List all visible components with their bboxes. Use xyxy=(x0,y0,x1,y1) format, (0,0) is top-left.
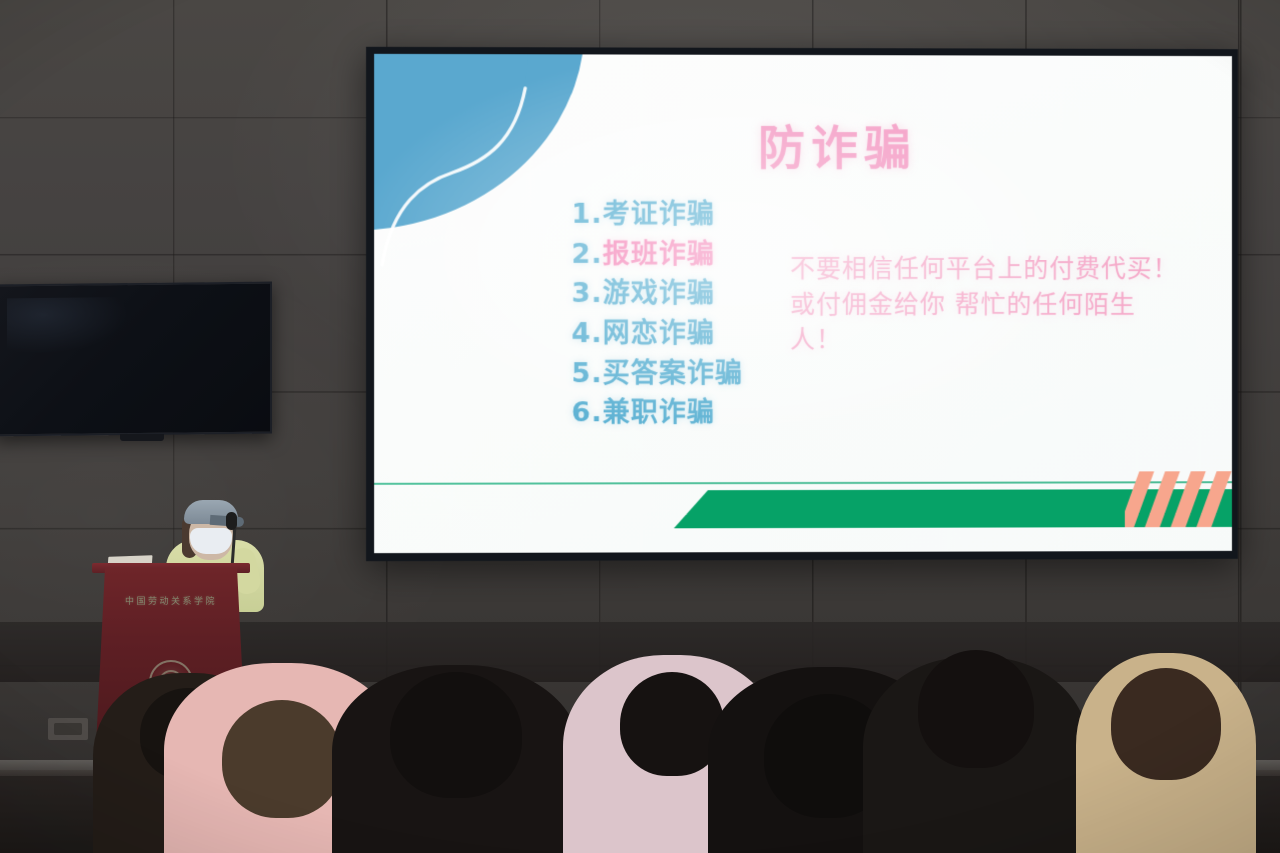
attendee-6-ponytail xyxy=(863,650,1089,853)
fraud-type-list: 1.考证诈骗 2.报班诈骗 3.游戏诈骗 4.网恋诈骗 5.买答案诈骗 6.兼职… xyxy=(571,197,743,431)
list-item: 1.考证诈骗 xyxy=(571,197,743,233)
podium-inscription: 中国劳动关系学院 xyxy=(96,594,246,607)
wall-power-outlet[interactable] xyxy=(48,718,88,740)
attendee-head xyxy=(1111,668,1221,780)
display-glare xyxy=(7,297,128,354)
list-item-number: 2. xyxy=(571,238,602,269)
list-item-number: 6. xyxy=(571,397,602,428)
slide-title: 防诈骗 xyxy=(758,109,917,178)
presentation-slide: 防诈骗 1.考证诈骗 2.报班诈骗 3.游戏诈骗 4.网恋诈骗 5.买答案诈骗 xyxy=(374,54,1232,553)
list-item-label: 网恋诈骗 xyxy=(603,318,715,349)
slide-hairline-rule xyxy=(374,481,1232,485)
attendee-head xyxy=(918,650,1034,768)
list-item: 6.兼职诈骗 xyxy=(571,395,743,431)
list-item: 5.买答案诈骗 xyxy=(571,356,743,392)
list-item-number: 5. xyxy=(571,358,602,389)
wall-mounted-display[interactable] xyxy=(0,282,272,437)
list-item: 4.网恋诈骗 xyxy=(571,316,743,352)
microphone-icon xyxy=(226,512,237,530)
list-item-number: 1. xyxy=(571,199,602,230)
list-item-label: 报班诈骗 xyxy=(603,238,715,269)
attendee-7-tan-coat xyxy=(1076,668,1256,853)
list-item: 2.报班诈骗 xyxy=(571,236,743,272)
list-item-number: 3. xyxy=(571,278,602,309)
list-item-label: 考证诈骗 xyxy=(603,199,715,230)
attendee-3-dark-hair xyxy=(332,672,580,853)
list-item-label: 兼职诈骗 xyxy=(603,397,715,428)
projection-screen-frame: 防诈骗 1.考证诈骗 2.报班诈骗 3.游戏诈骗 4.网恋诈骗 5.买答案诈骗 xyxy=(366,47,1238,561)
slide-warning-note: 不要相信任何平台上的付费代买！或付佣金给你 帮忙的任何陌生人！ xyxy=(790,251,1178,358)
display-mount xyxy=(120,434,164,441)
lecture-hall-photo: 防诈骗 1.考证诈骗 2.报班诈骗 3.游戏诈骗 4.网恋诈骗 5.买答案诈骗 xyxy=(0,0,1280,853)
attendee-head xyxy=(390,672,522,798)
list-item-label: 游戏诈骗 xyxy=(603,278,715,309)
attendee-head xyxy=(222,700,342,818)
list-item-number: 4. xyxy=(571,318,602,349)
speaker-face-mask xyxy=(190,528,232,554)
list-item-label: 买答案诈骗 xyxy=(603,358,743,389)
slide-coral-stripes-icon xyxy=(1125,471,1232,527)
list-item: 3.游戏诈骗 xyxy=(571,276,743,312)
